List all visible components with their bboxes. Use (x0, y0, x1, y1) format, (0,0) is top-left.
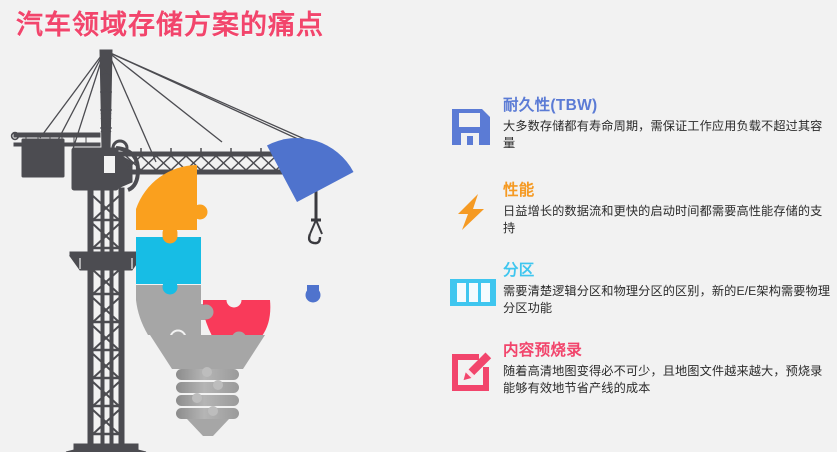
puzzle-piece-top-right-detached (267, 115, 354, 302)
feature-body-durability: 大多数存储都有寿命周期，需保证工作应用负载不超过其容量 (503, 118, 833, 152)
feature-text-preflash: 内容预烧录 随着高清地图变得必不可少，且地图文件越来越大，预烧录能够有效地节省产… (503, 341, 833, 397)
feature-heading-durability: 耐久性(TBW) (503, 96, 833, 116)
feature-text-durability: 耐久性(TBW) 大多数存储都有寿命周期，需保证工作应用负载不超过其容量 (503, 96, 833, 152)
feature-heading-performance: 性能 (503, 181, 833, 201)
slide-canvas: 汽车领域存储方案的痛点 (0, 0, 837, 452)
crane-mast (66, 188, 146, 452)
feature-text-partition: 分区 需要清楚逻辑分区和物理分区的区别，新的E/E架构需要物理分区功能 (503, 261, 833, 317)
feature-heading-partition: 分区 (503, 261, 833, 281)
feature-body-performance: 日益增长的数据流和更快的启动时间都需要高性能存储的支持 (503, 203, 833, 237)
feature-item-durability: 耐久性(TBW) 大多数存储都有寿命周期，需保证工作应用负载不超过其容量 (443, 96, 837, 172)
bulb-screw-base (176, 367, 239, 436)
pencil-edit-icon (448, 349, 494, 395)
lightning-bolt-icon (448, 189, 494, 235)
partition-columns-icon (448, 269, 494, 315)
crane-lightbulb-illustration (0, 30, 430, 452)
floppy-disk-icon (448, 104, 494, 150)
feature-text-performance: 性能 日益增长的数据流和更快的启动时间都需要高性能存储的支持 (503, 181, 833, 237)
feature-item-partition: 分区 需要清楚逻辑分区和物理分区的区别，新的E/E架构需要物理分区功能 (443, 261, 837, 337)
lightbulb-puzzle (136, 115, 354, 436)
feature-body-preflash: 随着高清地图变得必不可少，且地图文件越来越大，预烧录能够有效地节省产线的成本 (503, 363, 833, 397)
feature-body-partition: 需要清楚逻辑分区和物理分区的区别，新的E/E架构需要物理分区功能 (503, 283, 833, 317)
feature-item-performance: 性能 日益增长的数据流和更快的启动时间都需要高性能存储的支持 (443, 181, 837, 257)
feature-list: 耐久性(TBW) 大多数存储都有寿命周期，需保证工作应用负载不超过其容量 性能 … (443, 96, 837, 436)
feature-heading-preflash: 内容预烧录 (503, 341, 833, 361)
feature-item-preflash: 内容预烧录 随着高清地图变得必不可少，且地图文件越来越大，预烧录能够有效地节省产… (443, 341, 837, 417)
